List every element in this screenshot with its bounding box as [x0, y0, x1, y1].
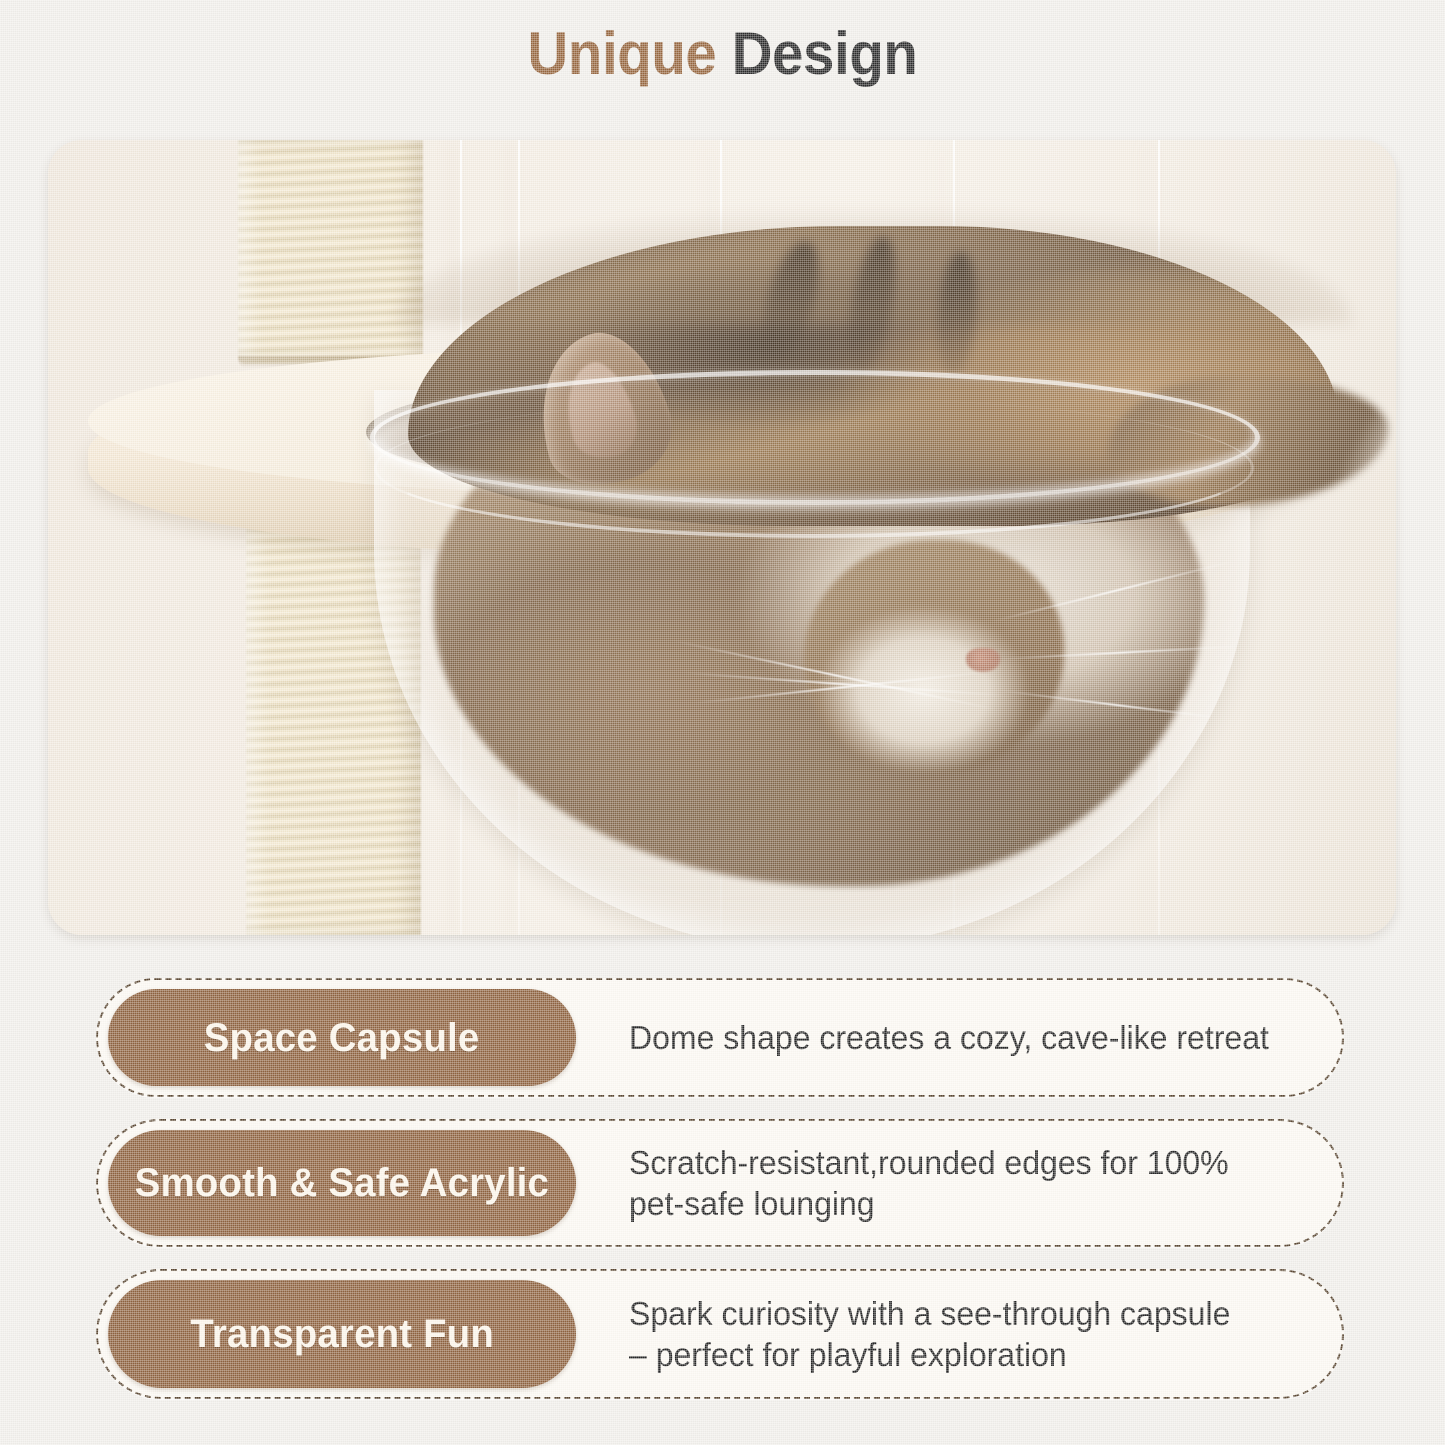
page-title: Unique Design [43, 16, 1401, 92]
page-title-word-design: Design [732, 20, 918, 87]
feature-description-line: Spark curiosity with a see-through capsu… [629, 1293, 1288, 1334]
feature-description-line: Dome shape creates a cozy, cave-like ret… [629, 1017, 1288, 1058]
sisal-scratching-post-upper [238, 140, 423, 364]
feature-list: Space Capsule Dome shape creates a cozy,… [96, 978, 1344, 1421]
feature-label-pill: Space Capsule [108, 989, 576, 1086]
feature-label-text: Space Capsule [204, 1018, 480, 1058]
sleeping-cat-fur-top [408, 226, 1338, 526]
hero-product-photo [48, 140, 1396, 935]
cat-ear [520, 319, 684, 498]
feature-description-line: – perfect for playful exploration [629, 1334, 1288, 1375]
page-title-word-unique: Unique [528, 20, 717, 87]
feature-label-pill: Transparent Fun [108, 1280, 576, 1388]
feature-description-line: pet-safe lounging [629, 1183, 1288, 1224]
feature-description: Dome shape creates a cozy, cave-like ret… [629, 1017, 1288, 1058]
cat-ear-inner [554, 356, 644, 466]
feature-description: Scratch-resistant,rounded edges for 100%… [629, 1142, 1288, 1224]
feature-description-line: Scratch-resistant,rounded edges for 100% [629, 1142, 1288, 1183]
feature-label-text: Transparent Fun [190, 1314, 494, 1354]
cat-stripe [840, 234, 904, 379]
feature-label-text: Smooth & Safe Acrylic [135, 1163, 549, 1203]
feature-row: Transparent Fun Spark curiosity with a s… [96, 1269, 1344, 1399]
cat-stripe [752, 236, 829, 364]
cat-stripe [934, 251, 981, 378]
feature-label-pill: Smooth & Safe Acrylic [108, 1130, 576, 1236]
cat-nose [966, 648, 1000, 672]
feature-description: Spark curiosity with a see-through capsu… [629, 1293, 1288, 1375]
feature-row: Space Capsule Dome shape creates a cozy,… [96, 978, 1344, 1097]
feature-row: Smooth & Safe Acrylic Scratch-resistant,… [96, 1119, 1344, 1247]
